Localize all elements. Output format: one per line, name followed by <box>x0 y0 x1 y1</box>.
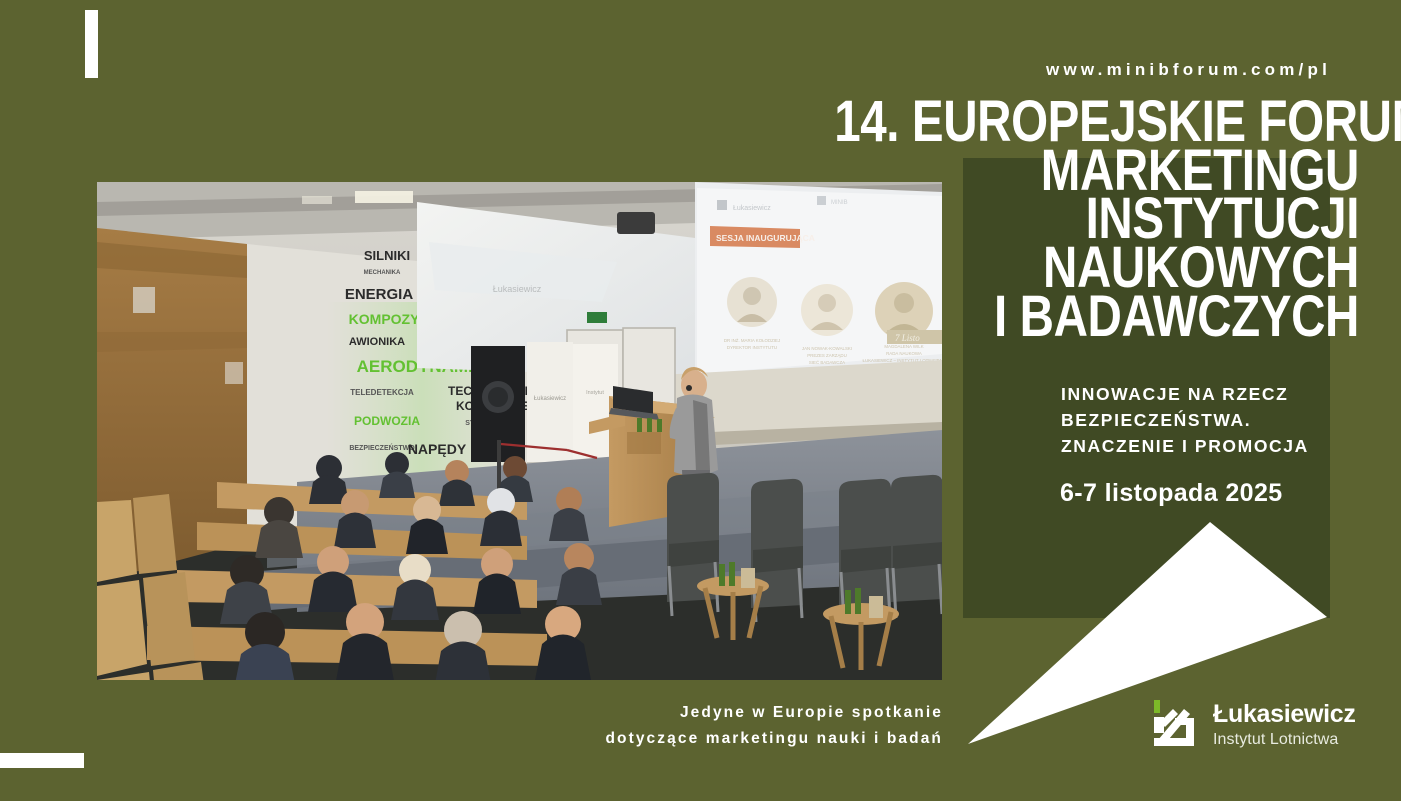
top-left-accent-bar <box>85 10 98 78</box>
subtitle-line-1: INNOWACJE NA RZECZ <box>1061 382 1361 408</box>
website-url[interactable]: www.minibforum.com/pl <box>1046 60 1331 80</box>
event-theme: INNOWACJE NA RZECZ BEZPIECZEŃSTWA. ZNACZ… <box>1061 382 1361 460</box>
bottom-left-accent-bar <box>0 753 84 768</box>
tagline-line-1: Jedyne w Europie spotkanie <box>523 700 943 726</box>
subtitle-line-3: ZNACZENIE I PROMOCJA <box>1061 434 1361 460</box>
svg-text:DYREKTOR INSTYTUTU: DYREKTOR INSTYTUTU <box>727 345 777 350</box>
svg-text:SESJA INAUGURUJĄCA: SESJA INAUGURUJĄCA <box>716 233 815 243</box>
svg-text:Łukasiewicz: Łukasiewicz <box>534 396 566 402</box>
svg-text:SIEĆ BADAWCZA: SIEĆ BADAWCZA <box>809 360 845 365</box>
tagline: Jedyne w Europie spotkanie dotyczące mar… <box>523 700 943 751</box>
svg-text:MECHANIKA: MECHANIKA <box>364 270 401 276</box>
svg-text:AWIONIKA: AWIONIKA <box>349 336 405 348</box>
svg-text:BEZPIECZEŃSTWO: BEZPIECZEŃSTWO <box>349 443 415 452</box>
poster-canvas: SILNIKI PROJEKTOWANIE MECHANIKA TURBINY … <box>0 0 1401 801</box>
logo-wordmark: Łukasiewicz Instytut Lotnictwa <box>1213 701 1356 751</box>
svg-text:ENERGIA: ENERGIA <box>345 286 414 303</box>
conference-photo-illustration: SILNIKI PROJEKTOWANIE MECHANIKA TURBINY … <box>97 182 942 680</box>
svg-text:DR INŻ. MARIA KOŁODZIEJ: DR INŻ. MARIA KOŁODZIEJ <box>724 338 780 343</box>
svg-text:Instytut: Instytut <box>586 390 604 396</box>
lukasiewicz-logo: Łukasiewicz Instytut Lotnictwa <box>1151 700 1351 770</box>
page-title: 14. EUROPEJSKIE FORUM MARKETINGU INSTYTU… <box>834 98 1359 342</box>
tagline-line-2: dotyczące marketingu nauki i badań <box>523 726 943 752</box>
logo-brand-name: Łukasiewicz <box>1213 701 1356 727</box>
event-date: 6-7 listopada 2025 <box>1060 479 1283 508</box>
conference-photo: SILNIKI PROJEKTOWANIE MECHANIKA TURBINY … <box>97 182 942 680</box>
svg-text:NAPĘDY: NAPĘDY <box>408 441 467 457</box>
svg-text:Łukasiewicz: Łukasiewicz <box>493 284 542 294</box>
lukasiewicz-glyph-icon <box>1151 700 1206 752</box>
logo-institute-name: Instytut Lotnictwa <box>1213 730 1356 751</box>
svg-text:PODWOZIA: PODWOZIA <box>354 414 420 428</box>
svg-text:SILNIKI: SILNIKI <box>364 248 410 263</box>
lukasiewicz-mark-icon <box>1151 700 1206 752</box>
svg-text:MAGDALENA WILK: MAGDALENA WILK <box>884 344 923 349</box>
svg-text:PREZES ZARZĄDU: PREZES ZARZĄDU <box>807 353 847 358</box>
svg-text:RADA NAUKOWA: RADA NAUKOWA <box>886 351 922 356</box>
svg-text:TELEDETEKCJA: TELEDETEKCJA <box>350 388 414 397</box>
headline-line-5: I BADAWCZYCH <box>834 293 1359 342</box>
svg-text:JAN NOWAK-KOWALSKI: JAN NOWAK-KOWALSKI <box>802 346 852 351</box>
subtitle-line-2: BEZPIECZEŃSTWA. <box>1061 408 1361 434</box>
svg-text:Łukasiewicz: Łukasiewicz <box>733 205 771 212</box>
